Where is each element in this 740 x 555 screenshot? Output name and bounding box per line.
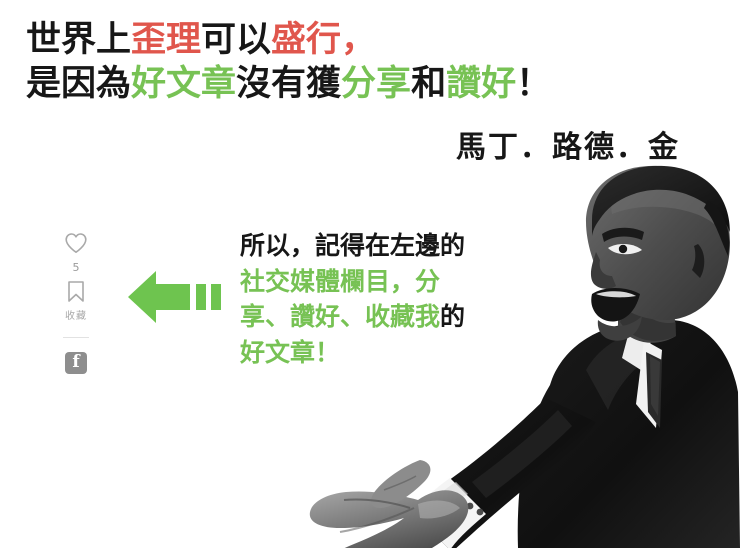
body-copy-line-1: 所以，記得在左邊的	[240, 228, 510, 264]
bookmark-label: 收藏	[65, 312, 87, 322]
like-count: 5	[73, 262, 80, 273]
headline-seg-red-2: 盛行，	[271, 20, 376, 60]
body-seg-black-1: 所以，記得在左邊的	[240, 231, 465, 260]
body-seg-black-2: 的	[440, 302, 465, 331]
headline-seg-green-3: 讚好	[446, 64, 516, 104]
facebook-glyph: f	[65, 354, 87, 371]
headline-block: 世界上歪理可以盛行， 是因為好文章沒有獲分享和讚好！	[26, 22, 586, 110]
bookmark-icon[interactable]	[66, 280, 86, 308]
body-copy-line-3: 享、讚好、收藏我的	[240, 299, 510, 335]
headline-seg-black-2: 可以	[201, 20, 271, 60]
poster-canvas: 世界上歪理可以盛行， 是因為好文章沒有獲分享和讚好！ 馬丁．路德．金	[0, 0, 740, 555]
headline-seg-black-3: 是因為	[26, 64, 131, 104]
heart-icon[interactable]	[64, 232, 88, 258]
headline-line-1: 世界上歪理可以盛行，	[26, 22, 586, 60]
body-seg-green-1: 社交媒體欄目，分	[240, 267, 440, 296]
body-seg-green-2: 享、讚好、收藏我	[240, 302, 440, 331]
headline-seg-black-5: 和	[411, 64, 446, 104]
body-copy-line-2: 社交媒體欄目，分	[240, 264, 510, 300]
headline-seg-black-4: 沒有獲	[236, 64, 341, 104]
headline-seg-red-1: 歪理	[131, 20, 201, 60]
rail-divider	[63, 337, 89, 338]
headline-seg-black-1: 世界上	[26, 20, 131, 60]
headline-seg-black-6: ！	[516, 64, 551, 104]
headline-seg-green-2: 分享	[341, 64, 411, 104]
headline-line-2: 是因為好文章沒有獲分享和讚好！	[26, 66, 586, 104]
body-copy-block: 所以，記得在左邊的 社交媒體欄目，分 享、讚好、收藏我的 好文章！	[240, 228, 510, 370]
headline-seg-green-1: 好文章	[131, 64, 236, 104]
facebook-icon[interactable]: f	[65, 352, 87, 374]
body-copy-line-4: 好文章！	[240, 335, 510, 371]
social-share-rail: 5 收藏 f	[52, 232, 100, 374]
bottom-white-strip	[0, 548, 740, 555]
body-seg-green-3: 好文章！	[240, 338, 340, 367]
arrow-left-icon	[128, 271, 224, 323]
